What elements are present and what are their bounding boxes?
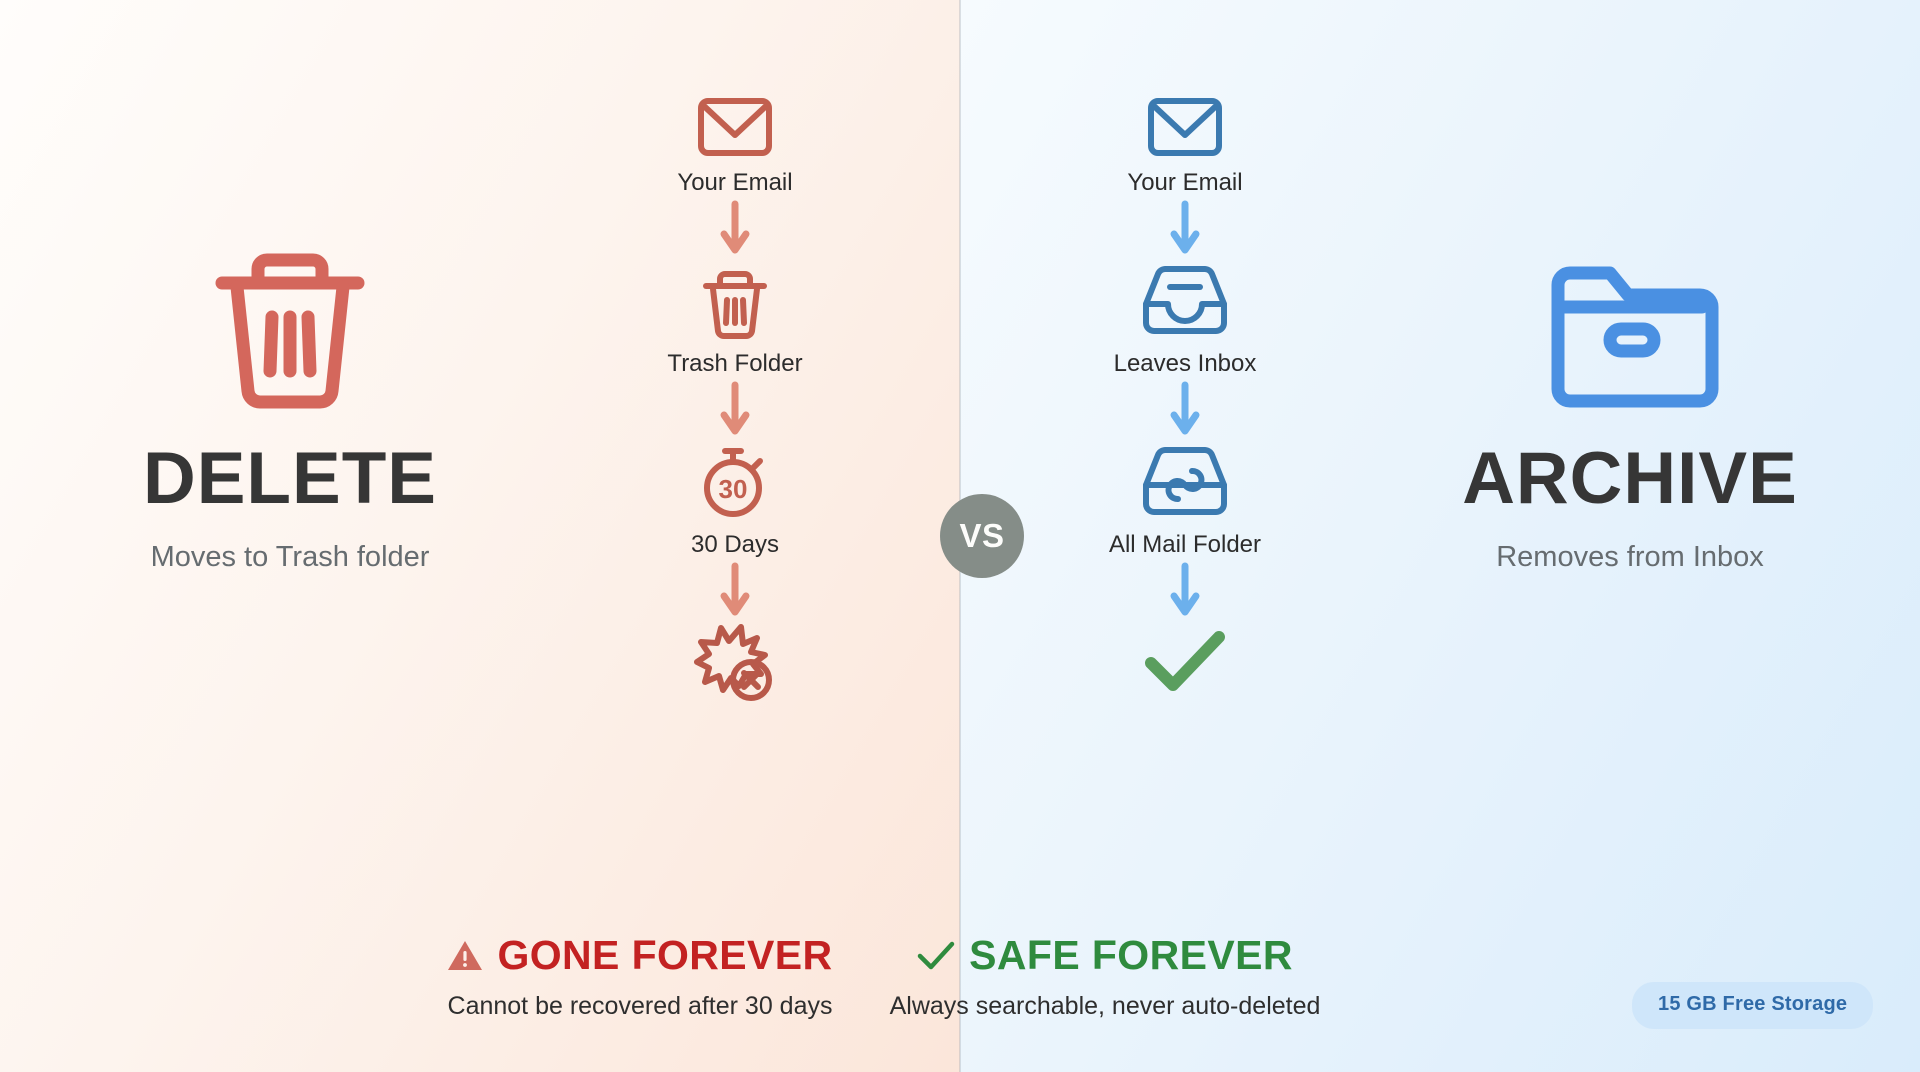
flow-arrow-down-icon xyxy=(1025,380,1345,440)
flow-step-all-mail-folder: All Mail Folder xyxy=(1025,442,1345,557)
flow-label: Trash Folder xyxy=(667,352,802,376)
warning-triangle-icon xyxy=(447,939,483,972)
flow-step-30-days: 30 30 Days xyxy=(575,442,895,557)
archive-verdict-headline: SAFE FOREVER xyxy=(969,935,1293,976)
flow-step-trash-folder: Trash Folder xyxy=(575,261,895,376)
flow-label: All Mail Folder xyxy=(1109,533,1261,557)
flow-arrow-down-icon xyxy=(1025,199,1345,259)
archive-folder-icon xyxy=(1400,230,1860,420)
archive-subtitle: Removes from Inbox xyxy=(1400,541,1860,574)
flow-arrow-down-icon xyxy=(575,199,895,259)
flow-label: Your Email xyxy=(1127,171,1242,195)
delete-flow: Your Email xyxy=(575,80,895,701)
archive-flow: Your Email Leaves Inbox xyxy=(1025,80,1345,701)
flow-step-your-email: Your Email xyxy=(575,80,895,195)
flow-step-leaves-inbox: Leaves Inbox xyxy=(1025,261,1345,376)
flow-label: Leaves Inbox xyxy=(1114,352,1257,376)
storage-badge: 15 GB Free Storage xyxy=(1632,982,1873,1029)
archive-verdict-headline-row: SAFE FOREVER xyxy=(755,935,1455,976)
delete-title: DELETE xyxy=(60,442,520,515)
archive-verdict-subtext: Always searchable, never auto-deleted xyxy=(755,992,1455,1021)
delete-hero: DELETE Moves to Trash folder xyxy=(60,230,520,574)
envelope-icon xyxy=(1147,80,1223,158)
check-mark-icon xyxy=(1143,629,1227,695)
trash-can-icon xyxy=(60,230,520,420)
archive-title: ARCHIVE xyxy=(1400,442,1860,515)
trash-can-icon xyxy=(701,261,769,339)
vs-badge: VS xyxy=(940,494,1024,578)
stopwatch-30-icon: 30 xyxy=(695,442,775,520)
flow-label: Your Email xyxy=(677,171,792,195)
flow-label: 30 Days xyxy=(691,533,779,557)
archive-hero: ARCHIVE Removes from Inbox xyxy=(1400,230,1860,574)
burst-x-icon xyxy=(693,622,777,702)
flow-step-your-email: Your Email xyxy=(1025,80,1345,195)
delete-subtitle: Moves to Trash folder xyxy=(60,541,520,574)
svg-text:30: 30 xyxy=(719,474,748,504)
inbox-out-icon xyxy=(1140,261,1230,339)
flow-arrow-down-icon xyxy=(575,380,895,440)
flow-step-gone xyxy=(575,623,895,701)
archive-verdict: SAFE FOREVER Always searchable, never au… xyxy=(755,935,1455,1021)
check-mark-icon xyxy=(917,941,955,971)
infographic-canvas: VS DELETE Moves to Trash folder xyxy=(0,0,1920,1072)
vs-label: VS xyxy=(959,517,1004,555)
flow-arrow-down-icon xyxy=(575,561,895,621)
archive-infinity-icon xyxy=(1140,442,1230,520)
flow-step-safe xyxy=(1025,623,1345,701)
flow-arrow-down-icon xyxy=(1025,561,1345,621)
envelope-icon xyxy=(697,80,773,158)
